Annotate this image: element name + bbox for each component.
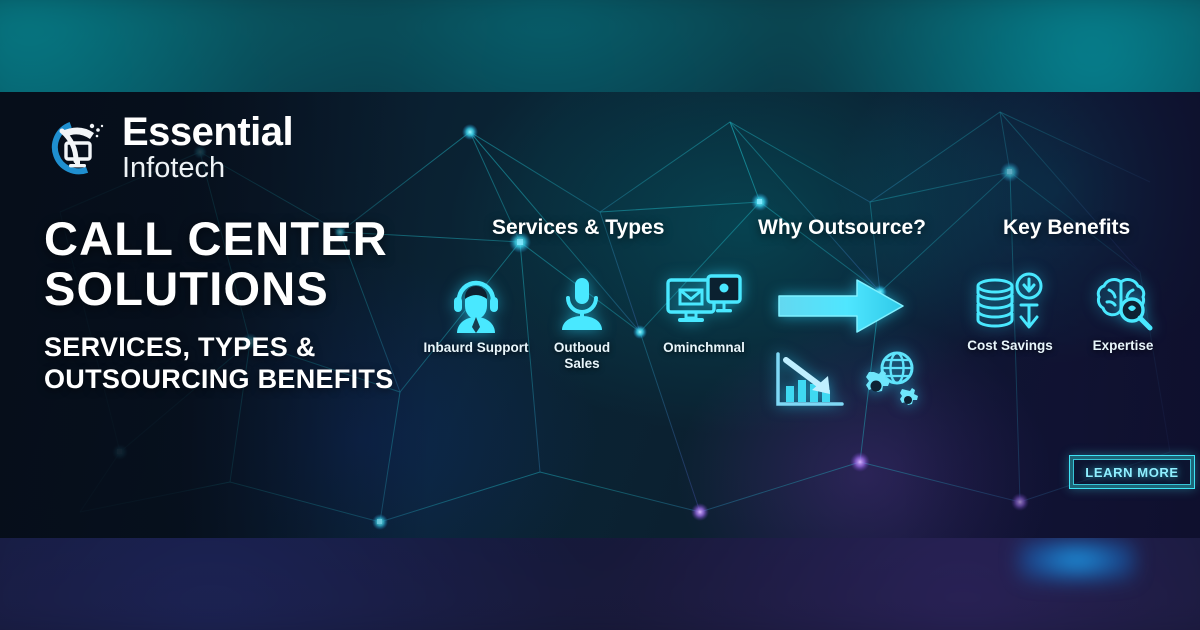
- brand-logo[interactable]: Essential Infotech: [46, 112, 293, 183]
- monitor-swoosh-logo-icon: [46, 117, 108, 179]
- gears-globe-icon: [854, 350, 924, 412]
- benefit-item-cost-savings[interactable]: Cost Savings: [958, 272, 1062, 354]
- outsource-item-gears: [854, 350, 924, 417]
- right-arrow-icon: [775, 274, 907, 338]
- subheadline-line-1: SERVICES, TYPES &: [44, 331, 444, 363]
- microphone-person-icon: [556, 272, 608, 334]
- logo-brand-name: Essential: [122, 112, 293, 152]
- service-label-outbound: Outboud Sales: [554, 340, 610, 373]
- headset-agent-icon: [446, 272, 506, 334]
- logo-brand-sub: Infotech: [122, 154, 293, 183]
- service-item-omnichannel[interactable]: Ominchmnal: [648, 272, 760, 356]
- learn-more-button[interactable]: LEARN MORE: [1069, 455, 1195, 489]
- outsource-item-chart: [772, 350, 846, 415]
- brain-magnifier-icon: [1087, 272, 1159, 332]
- service-label-omnichannel: Ominchmnal: [663, 340, 745, 356]
- main-banner: Essential Infotech CALL CENTER SOLUTIONS…: [0, 92, 1200, 538]
- service-item-inbound-support[interactable]: Inbaurd Support: [410, 272, 542, 356]
- background-glow-rect: [1018, 538, 1136, 582]
- benefit-label-cost-savings: Cost Savings: [967, 338, 1053, 354]
- column-title-services: Services & Types: [492, 216, 664, 240]
- learn-more-label: LEARN MORE: [1085, 465, 1178, 480]
- column-title-outsource: Why Outsource?: [758, 216, 926, 240]
- coins-down-arrow-icon: [973, 272, 1047, 332]
- benefit-label-expertise: Expertise: [1093, 338, 1154, 354]
- service-item-outbound-sales[interactable]: Outboud Sales: [540, 272, 624, 373]
- column-title-benefits: Key Benefits: [1003, 216, 1130, 240]
- banner-canvas: Essential Infotech CALL CENTER SOLUTIONS…: [0, 0, 1200, 630]
- monitor-devices-icon: [664, 272, 744, 334]
- headline-block: CALL CENTER SOLUTIONS SERVICES, TYPES & …: [44, 214, 444, 395]
- declining-bar-chart-icon: [772, 350, 846, 410]
- benefit-item-expertise[interactable]: Expertise: [1076, 272, 1170, 354]
- headline-line-1: CALL CENTER: [44, 214, 444, 264]
- subheadline-line-2: OUTSOURCING BENEFITS: [44, 363, 444, 395]
- service-label-inbound: Inbaurd Support: [424, 340, 529, 356]
- outsource-item-arrow: [775, 274, 907, 343]
- headline-line-2: SOLUTIONS: [44, 264, 444, 314]
